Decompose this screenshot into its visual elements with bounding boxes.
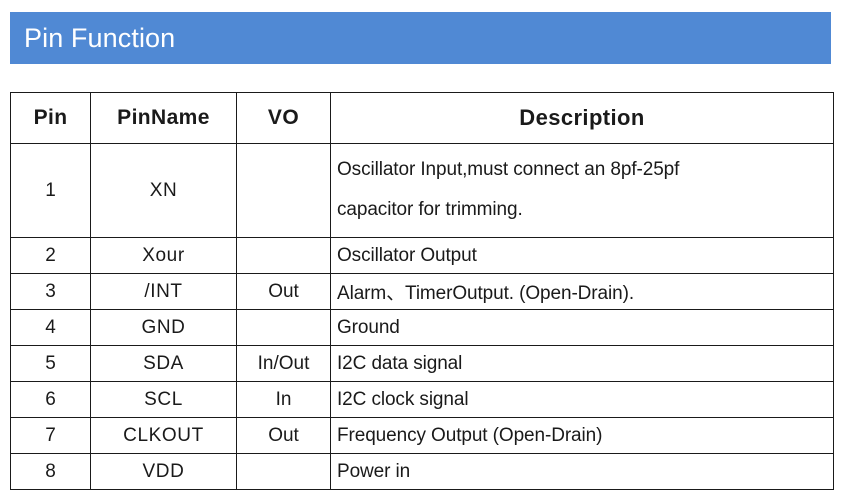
cell-pin: 6 bbox=[11, 382, 91, 418]
cell-description: Oscillator Output bbox=[331, 238, 834, 274]
description-line-2: capacitor for trimming. bbox=[337, 190, 833, 230]
table-header: Pin PinName VO Description bbox=[11, 93, 834, 144]
table-row: 3 /INT Out Alarm、TimerOutput. (Open-Drai… bbox=[11, 274, 834, 310]
cell-pin: 2 bbox=[11, 238, 91, 274]
cell-vo bbox=[237, 238, 331, 274]
cell-pin: 8 bbox=[11, 454, 91, 490]
description-line-1: Oscillator Input,must connect an 8pf-25p… bbox=[337, 150, 833, 190]
cell-vo: Out bbox=[237, 274, 331, 310]
cell-vo bbox=[237, 310, 331, 346]
column-header-pinname: PinName bbox=[91, 93, 237, 144]
table-row: 7 CLKOUT Out Frequency Output (Open-Drai… bbox=[11, 418, 834, 454]
cell-pin: 1 bbox=[11, 144, 91, 238]
cell-description: Oscillator Input,must connect an 8pf-25p… bbox=[331, 144, 834, 238]
cell-pin: 3 bbox=[11, 274, 91, 310]
cell-pinname: CLKOUT bbox=[91, 418, 237, 454]
column-header-description: Description bbox=[331, 93, 834, 144]
cell-pinname: VDD bbox=[91, 454, 237, 490]
column-header-vo: VO bbox=[237, 93, 331, 144]
cell-description: I2C clock signal bbox=[331, 382, 834, 418]
cell-description: Ground bbox=[331, 310, 834, 346]
cell-pinname: /INT bbox=[91, 274, 237, 310]
pin-function-table: Pin PinName VO Description 1 XN Oscillat… bbox=[10, 92, 834, 490]
cell-pin: 5 bbox=[11, 346, 91, 382]
cell-description: Alarm、TimerOutput. (Open-Drain). bbox=[331, 274, 834, 310]
section-header-banner: Pin Function bbox=[10, 12, 831, 64]
section-title: Pin Function bbox=[10, 25, 175, 52]
table-row: 1 XN Oscillator Input,must connect an 8p… bbox=[11, 144, 834, 238]
document-page: Pin Function Pin PinName VO Description bbox=[0, 0, 841, 492]
pin-function-table-container: Pin PinName VO Description 1 XN Oscillat… bbox=[10, 92, 833, 490]
cell-vo: In bbox=[237, 382, 331, 418]
cell-pinname: SCL bbox=[91, 382, 237, 418]
column-header-pin: Pin bbox=[11, 93, 91, 144]
table-row: 6 SCL In I2C clock signal bbox=[11, 382, 834, 418]
table-row: 2 Xour Oscillator Output bbox=[11, 238, 834, 274]
cell-vo bbox=[237, 454, 331, 490]
cell-pinname: Xour bbox=[91, 238, 237, 274]
cell-description: Power in bbox=[331, 454, 834, 490]
table-row: 5 SDA In/Out I2C data signal bbox=[11, 346, 834, 382]
cell-pin: 4 bbox=[11, 310, 91, 346]
cell-pinname: GND bbox=[91, 310, 237, 346]
cell-vo: In/Out bbox=[237, 346, 331, 382]
table-row: 8 VDD Power in bbox=[11, 454, 834, 490]
cell-vo bbox=[237, 144, 331, 238]
table-row: 4 GND Ground bbox=[11, 310, 834, 346]
cell-description: I2C data signal bbox=[331, 346, 834, 382]
table-header-row: Pin PinName VO Description bbox=[11, 93, 834, 144]
cell-pin: 7 bbox=[11, 418, 91, 454]
cell-pinname: SDA bbox=[91, 346, 237, 382]
table-body: 1 XN Oscillator Input,must connect an 8p… bbox=[11, 144, 834, 490]
cell-pinname: XN bbox=[91, 144, 237, 238]
cell-vo: Out bbox=[237, 418, 331, 454]
cell-description: Frequency Output (Open-Drain) bbox=[331, 418, 834, 454]
